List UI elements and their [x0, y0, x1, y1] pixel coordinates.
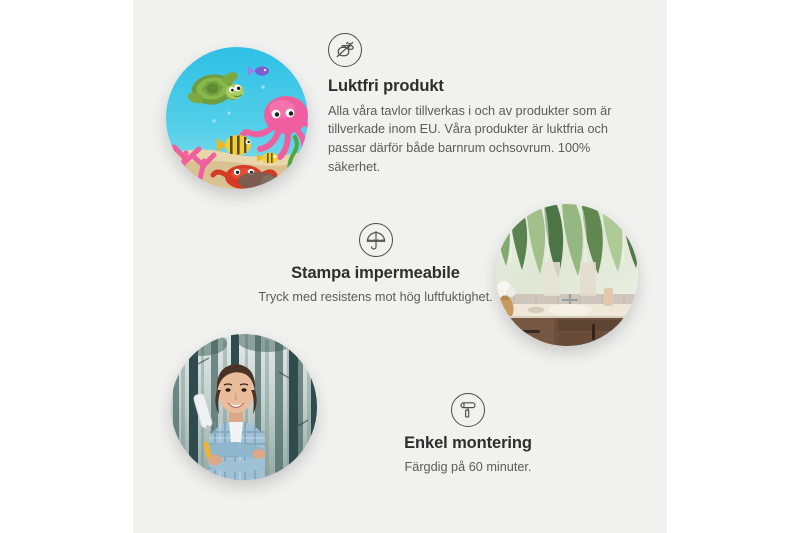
photo-underwater-scene: [166, 47, 308, 189]
content-panel: Luktfri produkt Alla våra tavlor tillver…: [133, 0, 667, 533]
feature-odour-free: Luktfri produkt Alla våra tavlor tillver…: [328, 33, 628, 176]
feature-icon-wrap: [328, 33, 628, 67]
umbrella-icon: [359, 223, 393, 257]
infographic-stage: Luktfri produkt Alla våra tavlor tillver…: [0, 0, 800, 533]
feature-title: Stampa impermeabile: [208, 263, 543, 284]
no-fragrance-icon: [328, 33, 362, 67]
feature-waterproof-print: Stampa impermeabile Tryck med resistens …: [208, 223, 543, 306]
feature-icon-wrap: [208, 223, 543, 257]
photo-painter-forest-wallpaper: [171, 334, 317, 480]
feature-easy-mounting: Enkel montering Färgdig på 60 minuter.: [323, 393, 613, 476]
feature-icon-wrap: [323, 393, 613, 427]
feature-body: Färgdig på 60 minuter.: [323, 458, 613, 477]
feature-title: Enkel montering: [323, 433, 613, 454]
feature-body: Tryck med resistens mot hög luftfuktighe…: [208, 288, 543, 307]
feature-title: Luktfri produkt: [328, 76, 628, 97]
feature-body: Alla våra tavlor tillverkas i och av pro…: [328, 102, 620, 177]
paint-roller-icon: [451, 393, 485, 427]
